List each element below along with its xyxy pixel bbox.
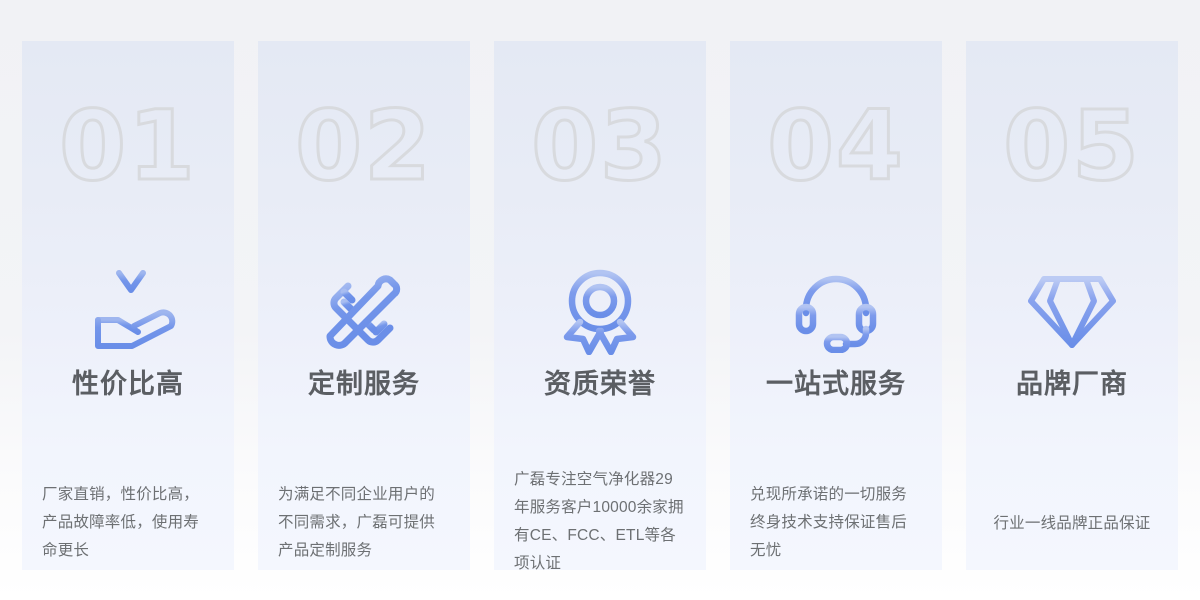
card-description: 行业一线品牌正品保证 (978, 510, 1166, 538)
card-number-badge: 03 (494, 93, 706, 199)
feature-card-5[interactable]: 05 (966, 41, 1178, 570)
card-title: 定制服务 (258, 364, 470, 404)
feature-card-1[interactable]: 01 (22, 41, 234, 570)
feature-card-3[interactable]: 03 (494, 41, 706, 570)
card-number-badge: 05 (966, 93, 1178, 199)
card-description: 兑现所承诺的一切服务终身技术支持保证售后无忧 (750, 481, 922, 565)
card-title: 品牌厂商 (966, 364, 1178, 404)
card-number-badge: 01 (22, 93, 234, 199)
card-description: 厂家直销，性价比高，产品故障率低，使用寿命更长 (42, 481, 214, 565)
card-title: 资质荣誉 (494, 364, 706, 404)
pen-wrench-icon (258, 256, 470, 366)
card-title: 一站式服务 (730, 364, 942, 404)
hand-holding-yuan-icon (22, 256, 234, 366)
feature-cards-row: 01 (22, 41, 1178, 570)
feature-card-4[interactable]: 04 (730, 41, 942, 570)
card-number-badge: 02 (258, 93, 470, 199)
feature-card-2[interactable]: 02 (258, 41, 470, 570)
award-medal-icon (494, 256, 706, 366)
card-description: 广磊专注空气净化器29年服务客户10000余家拥有CE、FCC、ETL等各项认证 (514, 466, 686, 570)
diamond-icon (966, 256, 1178, 366)
card-title: 性价比高 (22, 364, 234, 404)
card-description: 为满足不同企业用户的不同需求，广磊可提供产品定制服务 (278, 481, 450, 565)
feature-highlights-section: 01 (0, 0, 1200, 600)
card-number-badge: 04 (730, 93, 942, 199)
headset-icon (730, 256, 942, 366)
